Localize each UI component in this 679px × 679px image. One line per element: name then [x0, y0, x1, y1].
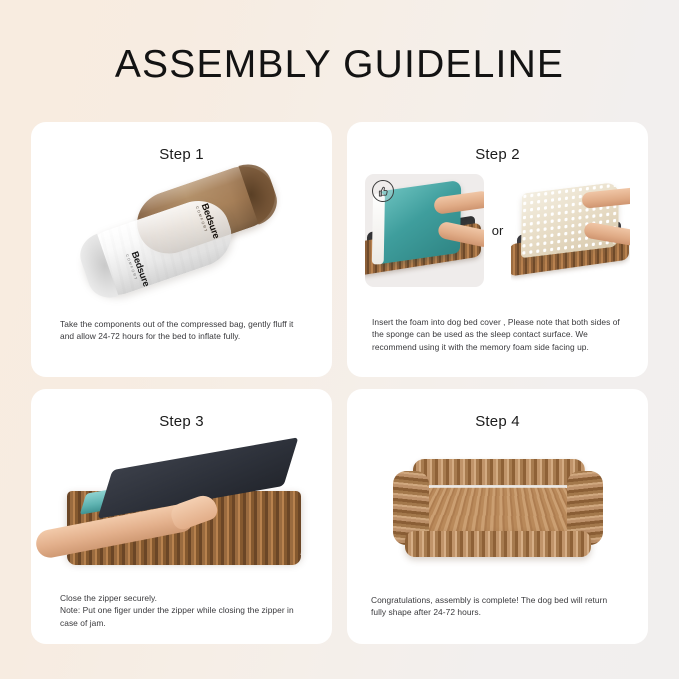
steps-grid: Step 1 Bedsure COMFORT Bedsure COMFORT T…: [31, 122, 648, 644]
step-card-4: Step 4 Congratulations, assembly is comp…: [347, 389, 648, 644]
step-3-caption: Close the zipper securely. Note: Put one…: [31, 592, 332, 629]
step-card-3: Step 3 Close the zipper securely. Note: …: [31, 389, 332, 644]
step-4-caption: Congratulations, assembly is complete! T…: [347, 594, 648, 619]
foam-memory-photo: [511, 174, 630, 287]
step-card-1: Step 1 Bedsure COMFORT Bedsure COMFORT T…: [31, 122, 332, 377]
foam-teal-photo: [365, 174, 484, 287]
step-1-caption: Take the components out of the compresse…: [31, 318, 332, 343]
step-card-2: Step 2 or: [347, 122, 648, 377]
bed-front-edge: [405, 531, 591, 557]
step-4-title: Step 4: [347, 413, 648, 430]
bolster-back: [413, 459, 585, 485]
assembly-guideline-page: ASSEMBLY GUIDELINE Step 1 Bedsure COMFOR…: [0, 0, 679, 679]
step-3-title: Step 3: [31, 413, 332, 430]
or-separator-label: or: [484, 174, 511, 287]
page-title: ASSEMBLY GUIDELINE: [0, 41, 679, 89]
bed-mattress-surface: [402, 488, 593, 534]
step-1-title: Step 1: [31, 146, 332, 163]
finished-dog-bed-illustration: [389, 449, 607, 567]
step-2-title: Step 2: [347, 146, 648, 163]
foam-insert-illustration: or: [365, 174, 630, 287]
step-2-caption: Insert the foam into dog bed cover , Ple…: [347, 316, 648, 353]
zipper-closing-illustration: [53, 455, 311, 575]
compressed-package-illustration: Bedsure COMFORT Bedsure COMFORT: [81, 174, 281, 302]
thumbs-up-icon: [372, 180, 394, 202]
